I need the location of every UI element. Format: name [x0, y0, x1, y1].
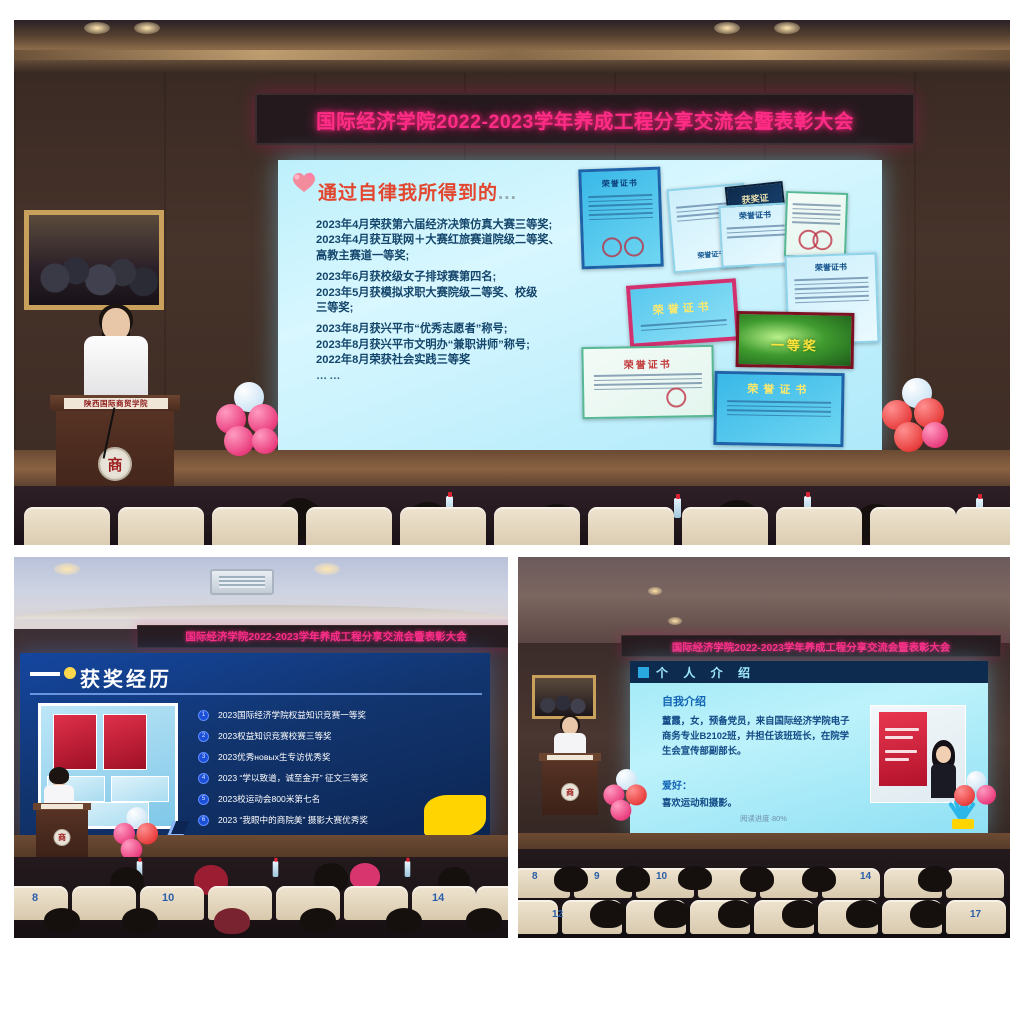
seat-number: 9 [594, 871, 600, 882]
list-item-label: 2023权益知识竞赛校赛三等奖 [218, 730, 332, 742]
heart-decoration-icon [292, 172, 316, 194]
certificate-collage: 荣誉证书 荣誉证书 获奖证 荣誉证书 [578, 164, 882, 450]
slide-body-line: 2023年8月获兴平市文明办“兼职讲师”称号; [316, 338, 616, 353]
led-banner-text: 国际经济学院2022-2023学年养成工程分享交流会暨表彰大会 [672, 639, 950, 654]
balloon-cluster [112, 807, 162, 863]
bullet-icon: 1 [198, 710, 209, 721]
list-item: 1 2023国际经济学院权益知识竞赛一等奖 [198, 705, 484, 725]
ceiling [518, 557, 1010, 643]
slide-subtitle: 自我介绍 [662, 693, 706, 709]
certificate-item: 荣誉证书 [581, 345, 714, 419]
certificate-heading: 荣誉证书 [717, 380, 841, 398]
slide-body-ellipsis: …… [316, 369, 616, 384]
podium-emblem-icon: 商 [561, 783, 579, 801]
seat-number: 10 [162, 892, 174, 904]
bullet-icon: 3 [198, 752, 209, 763]
slide-body-line: 2023年8月获兴平市“优秀志愿者”称号; [316, 322, 616, 337]
title-dash [30, 672, 60, 676]
ceiling [14, 557, 508, 629]
slide-body: 2023年4月荣获第六届经济决策仿真大赛三等奖; 2023年4月获互联网＋大赛红… [316, 218, 616, 384]
led-banner-text: 国际经济学院2022-2023学年养成工程分享交流会暨表彰大会 [185, 629, 466, 644]
seat-number: 8 [32, 892, 38, 904]
certificate-item: 荣誉证书 [626, 278, 740, 348]
wall-framed-photo [532, 675, 596, 719]
slide-title: 通过自律我所得到的... [318, 178, 517, 205]
progress-text: 阅读进度·80% [740, 813, 787, 824]
slide-title: 获奖经历 [80, 663, 172, 692]
certificate-heading: 一等奖 [739, 334, 851, 355]
podium-emblem-char: 商 [107, 454, 122, 475]
slide-body-line: 2023年6月获校级女子排球赛第四名; [316, 270, 616, 285]
list-item-label: 2023校运动会800米第七名 [218, 793, 320, 805]
balloon-cluster-right [954, 771, 1003, 826]
bullet-icon: 2 [198, 731, 209, 742]
podium-emblem-char: 商 [58, 832, 66, 843]
balloon-cluster-left [214, 382, 284, 460]
certificate-item: 一等奖 [736, 311, 855, 369]
title-square-icon [638, 667, 649, 678]
podium: 商 [36, 803, 88, 859]
certificate-item: 荣誉证书 [578, 167, 663, 270]
certificate-heading: 荣誉证书 [721, 208, 789, 223]
slide-body-line: 2022年8月荣获社会实践三等奖 [316, 353, 616, 368]
self-intro-slide-photo: 国际经济学院2022-2023学年养成工程分享交流会暨表彰大会 个 人 介 绍 … [518, 557, 1010, 938]
list-item-label: 2023优秀новых生专访优秀奖 [218, 751, 330, 763]
slide-body-line: 2023年5月获模拟求职大赛院级二等奖、校级 [316, 286, 616, 301]
audience-rows: 8 10 14 [14, 857, 508, 938]
title-dot-icon [64, 667, 76, 679]
slide-title-ellipsis: ... [498, 183, 517, 204]
certificate-item: 荣誉证书 [718, 202, 793, 268]
bullet-icon: 4 [198, 773, 209, 784]
certificate-heading: 荣誉证书 [584, 355, 712, 372]
bullet-icon: 5 [198, 794, 209, 805]
list-item-label: 2023 “学以致道，诚至金开” 征文三等奖 [218, 772, 368, 784]
certificate-heading: 荣誉证书 [582, 177, 658, 191]
slide-body-line: 高教主赛道一等奖; [316, 249, 616, 264]
wall-framed-photo [24, 210, 164, 310]
slide-title-text: 通过自律我所得到的 [318, 183, 498, 204]
projection-screen: 个 人 介 绍 自我介绍 董霞，女，预备党员，来自国际经济学院电子商务专业B21… [630, 661, 988, 833]
profile-photo [870, 705, 966, 803]
podium-emblem-icon: 商 [54, 829, 71, 846]
seat-number: 14 [860, 871, 871, 882]
speaker-person [84, 308, 148, 400]
list-item: 4 2023 “学以致道，诚至金开” 征文三等奖 [198, 768, 484, 788]
seat-number: 8 [532, 871, 538, 882]
slide-body-line: 2023年4月荣获第六届经济决策仿真大赛三等奖; [316, 218, 616, 233]
podium: 陕西国际商贸学院 商 [56, 395, 174, 495]
list-item: 3 2023优秀новых生专访优秀奖 [198, 747, 484, 767]
photo-collage-page: 国际经济学院2022-2023学年养成工程分享交流会暨表彰大会 通过自律我所得到… [0, 0, 1024, 1024]
seat-number: 10 [656, 871, 667, 882]
projection-screen: 获奖经历 1 2023国际经济学院权益知识竞赛一等奖 2 2023权益知识竞赛校… [20, 653, 490, 839]
led-banner: 国际经济学院2022-2023学年养成工程分享交流会暨表彰大会 [137, 625, 508, 648]
podium: 商 [542, 753, 598, 815]
ceiling [14, 20, 1010, 72]
seat-number: 14 [432, 892, 444, 904]
podium-sign: 陕西国际商贸学院 [64, 398, 168, 409]
certificate-heading: 荣誉证书 [631, 296, 734, 319]
led-banner: 国际经济学院2022-2023学年养成工程分享交流会暨表彰大会 [621, 635, 1001, 657]
list-item: 2 2023权益知识竞赛校赛三等奖 [198, 726, 484, 746]
projection-screen: 通过自律我所得到的... 2023年4月荣获第六届经济决策仿真大赛三等奖; 20… [278, 160, 882, 450]
audience-rows [14, 486, 1010, 545]
slide-body-line: 2023年4月获互联网＋大赛红旅赛道院级二等奖、 [316, 233, 616, 248]
seat-number: 12 [552, 909, 563, 920]
balloon-cluster-left [602, 769, 651, 824]
ac-unit-icon [210, 569, 274, 595]
awards-slide-photo: 国际经济学院2022-2023学年养成工程分享交流会暨表彰大会 获奖经历 1 2… [14, 557, 508, 938]
audience-rows: 8 9 10 14 12 17 [518, 849, 1010, 938]
led-banner-text: 国际经济学院2022-2023学年养成工程分享交流会暨表彰大会 [316, 105, 854, 134]
list-item-label: 2023国际经济学院权益知识竞赛一等奖 [218, 709, 366, 721]
podium-sign [547, 755, 593, 761]
certificate-item [784, 191, 848, 259]
led-banner: 国际经济学院2022-2023学年养成工程分享交流会暨表彰大会 [255, 93, 915, 145]
slide-title: 个 人 介 绍 [656, 664, 756, 681]
podium-sign-text: 陕西国际商贸学院 [84, 398, 148, 409]
certificate-heading: 荣誉证书 [787, 260, 875, 274]
main-stage-photo: 国际经济学院2022-2023学年养成工程分享交流会暨表彰大会 通过自律我所得到… [14, 20, 1010, 545]
bullet-icon: 6 [198, 815, 209, 826]
hobby-text: 喜欢运动和摄影。 [662, 795, 737, 809]
slide-paragraph: 董霞，女，预备党员，来自国际经济学院电子商务专业B2102班，并担任该班班长，在… [662, 713, 852, 758]
yellow-decoration [424, 795, 486, 837]
podium-emblem-char: 商 [566, 787, 574, 798]
list-item-label: 2023 “我眼中的商院美” 摄影大赛优秀奖 [218, 814, 368, 826]
certificate-item: 荣誉证书 [713, 371, 844, 447]
hobby-label: 爱好： [662, 777, 692, 792]
seat-number: 17 [970, 909, 981, 920]
slide-body-line: 三等奖; [316, 301, 616, 316]
balloon-cluster-right [882, 378, 952, 456]
title-rule [30, 693, 482, 695]
